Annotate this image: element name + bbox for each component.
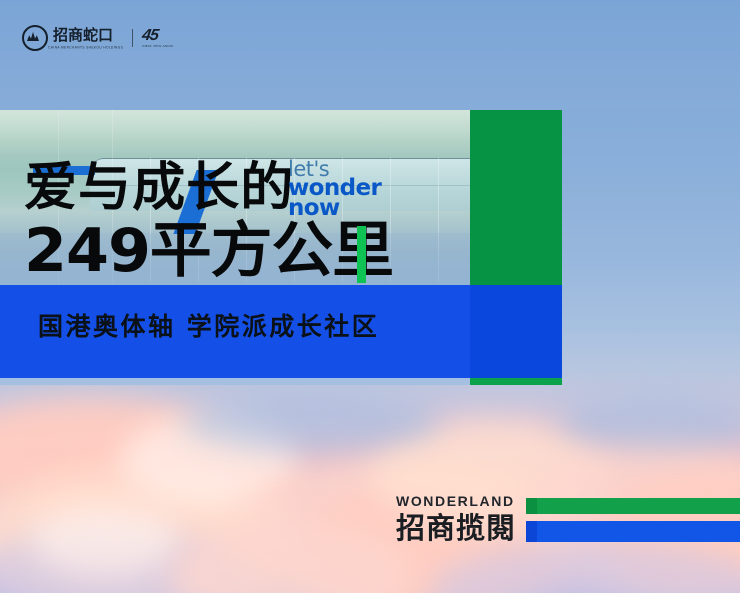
brand-bar-green [526,498,740,514]
brand-bars-graphic [526,498,740,542]
corporate-mark-icon [22,25,48,51]
hero-green-block [470,110,562,285]
anniversary-badge: 45 CMSK 45TH ANNIV. [142,28,172,48]
top-banner [0,0,740,110]
corporate-name-cn: 招商蛇口 [53,28,123,43]
brand-wordmark: WONDERLAND 招商揽閱 [396,494,516,543]
brand-name-en: WONDERLAND [396,494,516,508]
architecture-photo [0,110,470,285]
brand-lockup[interactable]: WONDERLAND 招商揽閱 [396,494,740,544]
brand-bar-blue [526,521,740,542]
poster-canvas: 招商蛇口 CHINA MERCHANTS SHEKOU HOLDINGS 45 … [0,0,740,593]
anniversary-caption: CMSK 45TH ANNIV. [142,44,174,48]
brand-name-cn: 招商揽閱 [396,514,516,543]
brand-bar-stub [526,498,537,542]
photo-ground [0,233,470,285]
photo-glass-roof [90,158,470,211]
photo-sheen [0,110,470,156]
corporate-wordmark: 招商蛇口 CHINA MERCHANTS SHEKOU HOLDINGS [48,28,123,49]
anniversary-number: 45 [141,28,159,44]
corporate-name-en: CHINA MERCHANTS SHEKOU HOLDINGS [48,45,123,50]
corporate-logo[interactable]: 招商蛇口 CHINA MERCHANTS SHEKOU HOLDINGS 45 … [22,24,172,52]
hero-composition [0,110,562,378]
hero-blue-bar [0,285,562,378]
logo-divider [132,29,133,47]
hero-blue-bar-accent [470,285,562,378]
